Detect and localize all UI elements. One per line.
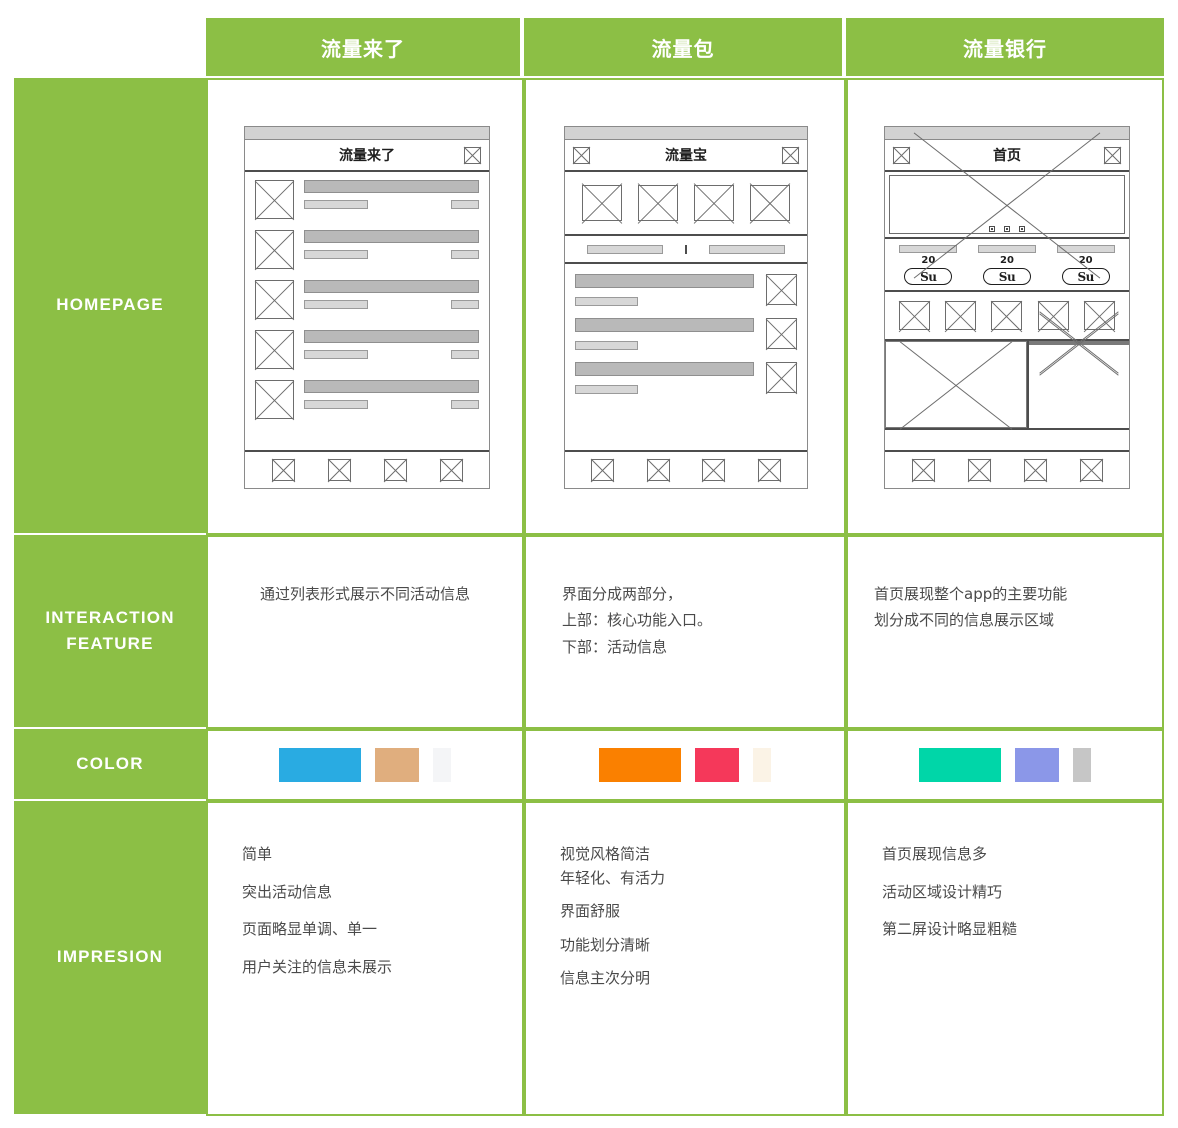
subtitle-row bbox=[304, 300, 479, 309]
impresion-line: 首页展现信息多 bbox=[882, 845, 1150, 865]
x-box-icon[interactable] bbox=[702, 459, 725, 481]
x-box-icon[interactable] bbox=[991, 301, 1022, 330]
x-box-icon[interactable] bbox=[893, 147, 910, 164]
homepage-cell-3: 首页 20 Su 20 Su bbox=[846, 78, 1164, 535]
x-box-icon bbox=[766, 318, 797, 349]
interaction-text-2: 界面分成两部分， 上部：核心功能入口。 下部：活动信息 bbox=[526, 581, 844, 660]
impresion-line: 简单 bbox=[242, 845, 510, 865]
list-item[interactable] bbox=[255, 230, 479, 269]
impresion-line: 第二屏设计略显粗糙 bbox=[882, 920, 1150, 940]
mosaic-section bbox=[885, 341, 1129, 430]
list-area bbox=[245, 172, 489, 419]
x-box-icon[interactable] bbox=[328, 459, 351, 481]
list-item-lines bbox=[304, 330, 479, 359]
x-box-icon bbox=[255, 180, 294, 219]
impresion-line: 界面舒服 bbox=[560, 902, 832, 922]
promo-pill-button[interactable]: Su bbox=[904, 268, 952, 285]
subtitle-placeholder-bar bbox=[304, 300, 368, 309]
list-item-lines bbox=[304, 180, 479, 209]
impresion-list-3: 首页展现信息多 活动区域设计精巧 第二屏设计略显粗糙 bbox=[882, 845, 1150, 958]
interaction-cell-1: 通过列表形式展示不同活动信息 bbox=[206, 535, 524, 729]
interaction-text-1: 通过列表形式展示不同活动信息 bbox=[208, 581, 522, 607]
x-box-icon[interactable] bbox=[582, 185, 622, 221]
carousel-dot[interactable] bbox=[989, 226, 995, 232]
feed-item-lines bbox=[575, 274, 754, 306]
promo-pill-button[interactable]: Su bbox=[1062, 268, 1110, 285]
x-box-icon[interactable] bbox=[694, 185, 734, 221]
impresion-line: 信息主次分明 bbox=[560, 969, 832, 989]
interaction-cell-2: 界面分成两部分， 上部：核心功能入口。 下部：活动信息 bbox=[524, 535, 846, 729]
x-box-icon bbox=[255, 280, 294, 319]
row-label-impresion: IMPRESION bbox=[14, 801, 206, 1114]
x-box-icon[interactable] bbox=[899, 301, 930, 330]
column-header-3-label: 流量银行 bbox=[963, 33, 1047, 62]
title-placeholder-bar bbox=[304, 380, 479, 393]
impresion-cell-3: 首页展现信息多 活动区域设计精巧 第二屏设计略显粗糙 bbox=[846, 801, 1164, 1116]
wireframe-mock-3: 首页 20 Su 20 Su bbox=[884, 126, 1130, 489]
app-title: 流量来了 bbox=[339, 145, 395, 165]
list-item-lines bbox=[304, 280, 479, 309]
title-bar: 首页 bbox=[885, 140, 1129, 172]
interaction-cell-3: 首页展现整个app的主要功能 划分成不同的信息展示区域 bbox=[846, 535, 1164, 729]
x-box-icon bbox=[766, 362, 797, 393]
impresion-cell-1: 简单 突出活动信息 页面略显单调、单一 用户关注的信息未展示 bbox=[206, 801, 524, 1116]
list-item-lines bbox=[304, 230, 479, 259]
promo-column[interactable]: 20 Su bbox=[968, 245, 1047, 285]
carousel-dots bbox=[885, 226, 1129, 232]
row-label-impresion-text: IMPRESION bbox=[57, 944, 163, 970]
wireframe-mock-1: 流量来了 bbox=[244, 126, 490, 489]
color-swatch-row-2 bbox=[526, 731, 844, 799]
split-entry-right[interactable] bbox=[685, 245, 807, 254]
x-box-icon[interactable] bbox=[750, 185, 790, 221]
color-swatch-tertiary bbox=[1073, 748, 1091, 782]
meta-placeholder-bar bbox=[451, 400, 479, 409]
list-item[interactable] bbox=[255, 280, 479, 319]
meta-placeholder-bar bbox=[451, 200, 479, 209]
split-entry-left[interactable] bbox=[565, 245, 685, 254]
split-entry-row bbox=[565, 236, 807, 264]
banner-carousel[interactable] bbox=[885, 172, 1129, 239]
interaction-text-3: 首页展现整个app的主要功能 划分成不同的信息展示区域 bbox=[848, 581, 1162, 634]
feed-area bbox=[565, 264, 807, 394]
app-title: 流量宝 bbox=[665, 145, 707, 165]
color-swatch-tertiary bbox=[753, 748, 771, 782]
list-item[interactable] bbox=[575, 274, 797, 306]
impresion-line: 活动区域设计精巧 bbox=[882, 883, 1150, 903]
column-header-1-label: 流量来了 bbox=[321, 33, 405, 62]
list-item[interactable] bbox=[255, 380, 479, 419]
color-swatch-primary bbox=[599, 748, 681, 782]
row-label-color: COLOR bbox=[14, 729, 206, 799]
list-item[interactable] bbox=[255, 180, 479, 219]
x-box-icon[interactable] bbox=[968, 459, 991, 481]
subtitle-placeholder-bar bbox=[304, 400, 368, 409]
status-bar bbox=[565, 127, 807, 140]
mosaic-right-stack bbox=[1027, 341, 1129, 428]
color-swatch-secondary bbox=[1015, 748, 1059, 782]
title-placeholder-bar bbox=[304, 230, 479, 243]
x-box-icon[interactable] bbox=[758, 459, 781, 481]
impresion-line: 页面略显单调、单一 bbox=[242, 920, 510, 940]
list-item[interactable] bbox=[255, 330, 479, 369]
list-item[interactable] bbox=[575, 318, 797, 350]
x-box-icon[interactable] bbox=[647, 459, 670, 481]
entry-placeholder-bar bbox=[709, 245, 785, 254]
x-box-icon bbox=[255, 380, 294, 419]
x-box-icon[interactable] bbox=[573, 147, 590, 164]
subtitle-row bbox=[304, 400, 479, 409]
subtitle-placeholder-bar bbox=[575, 385, 638, 394]
row-label-interaction-feature: INTERACTION FEATURE bbox=[14, 535, 206, 727]
promo-number: 20 bbox=[921, 255, 935, 266]
x-box-icon bbox=[1029, 343, 1129, 345]
x-box-icon bbox=[255, 330, 294, 369]
bottom-tab-bar bbox=[245, 450, 489, 488]
color-swatch-primary bbox=[279, 748, 361, 782]
color-swatch-secondary bbox=[695, 748, 739, 782]
impresion-list-1: 简单 突出活动信息 页面略显单调、单一 用户关注的信息未展示 bbox=[242, 845, 510, 995]
impresion-line: 视觉风格简洁 bbox=[560, 845, 832, 865]
subtitle-placeholder-bar bbox=[304, 200, 368, 209]
x-box-icon[interactable] bbox=[1104, 147, 1121, 164]
impresion-line: 年轻化、有活力 bbox=[560, 869, 832, 889]
wireframe-mock-2: 流量宝 bbox=[564, 126, 808, 489]
impresion-line: 突出活动信息 bbox=[242, 883, 510, 903]
title-placeholder-bar bbox=[575, 362, 754, 376]
title-bar: 流量宝 bbox=[565, 140, 807, 172]
subtitle-placeholder-bar bbox=[304, 250, 368, 259]
column-header-3: 流量银行 bbox=[846, 18, 1164, 76]
color-swatch-tertiary bbox=[433, 748, 451, 782]
x-box-icon bbox=[885, 341, 1027, 428]
x-box-icon[interactable] bbox=[384, 459, 407, 481]
title-placeholder-bar bbox=[304, 280, 479, 293]
x-box-icon[interactable] bbox=[440, 459, 463, 481]
column-header-2: 流量包 bbox=[524, 18, 842, 76]
x-box-icon bbox=[255, 230, 294, 269]
x-box-icon[interactable] bbox=[591, 459, 614, 481]
title-placeholder-bar bbox=[575, 274, 754, 288]
feed-item-lines bbox=[575, 318, 754, 350]
impresion-cell-2: 视觉风格简洁 年轻化、有活力 界面舒服 功能划分清晰 信息主次分明 bbox=[524, 801, 846, 1116]
color-swatch-secondary bbox=[375, 748, 419, 782]
carousel-dot[interactable] bbox=[1019, 226, 1025, 232]
title-placeholder-bar bbox=[304, 180, 479, 193]
feature-icon-grid bbox=[565, 172, 807, 236]
meta-placeholder-bar bbox=[451, 250, 479, 259]
impresion-list-2: 视觉风格简洁 年轻化、有活力 界面舒服 功能划分清晰 信息主次分明 bbox=[560, 845, 832, 1003]
promo-row: 20 Su 20 Su 20 Su bbox=[885, 239, 1129, 292]
bottom-tab-bar bbox=[885, 450, 1129, 488]
subtitle-row bbox=[304, 200, 479, 209]
feed-item-lines bbox=[575, 362, 754, 394]
subtitle-placeholder-bar bbox=[575, 297, 638, 306]
column-header-2-label: 流量包 bbox=[652, 33, 715, 62]
meta-placeholder-bar bbox=[451, 350, 479, 359]
color-cell-2 bbox=[524, 729, 846, 801]
entry-placeholder-bar bbox=[587, 245, 663, 254]
x-box-icon[interactable] bbox=[782, 147, 799, 164]
list-item[interactable] bbox=[575, 362, 797, 394]
color-swatch-row-1 bbox=[208, 731, 522, 799]
title-bar: 流量来了 bbox=[245, 140, 489, 172]
promo-number: 20 bbox=[1000, 255, 1014, 266]
x-box-icon[interactable] bbox=[1024, 459, 1047, 481]
mosaic-tile-small[interactable] bbox=[1029, 343, 1129, 345]
impresion-line: 功能划分清晰 bbox=[560, 936, 832, 956]
row-label-homepage-text: HOMEPAGE bbox=[56, 292, 164, 318]
x-box-icon[interactable] bbox=[272, 459, 295, 481]
color-cell-3 bbox=[846, 729, 1164, 801]
column-header-1: 流量来了 bbox=[206, 18, 520, 76]
row-label-homepage: HOMEPAGE bbox=[14, 78, 206, 533]
homepage-cell-1: 流量来了 bbox=[206, 78, 524, 535]
subtitle-row bbox=[304, 350, 479, 359]
promo-column[interactable]: 20 Su bbox=[1046, 245, 1125, 285]
x-box-icon[interactable] bbox=[945, 301, 976, 330]
carousel-dot[interactable] bbox=[1004, 226, 1010, 232]
x-box-icon bbox=[766, 274, 797, 305]
x-box-icon[interactable] bbox=[638, 185, 678, 221]
impresion-line: 用户关注的信息未展示 bbox=[242, 958, 510, 978]
bottom-tab-bar bbox=[565, 450, 807, 488]
promo-placeholder-bar bbox=[978, 245, 1036, 253]
title-placeholder-bar bbox=[304, 330, 479, 343]
subtitle-row bbox=[304, 250, 479, 259]
x-box-icon[interactable] bbox=[1080, 459, 1103, 481]
color-swatch-row-3 bbox=[848, 731, 1162, 799]
x-box-icon[interactable] bbox=[912, 459, 935, 481]
app-title: 首页 bbox=[993, 145, 1021, 165]
subtitle-placeholder-bar bbox=[304, 350, 368, 359]
comparison-board: 流量来了 流量包 流量银行 HOMEPAGE INTERACTION FEATU… bbox=[0, 0, 1178, 1128]
promo-pill-button[interactable]: Su bbox=[983, 268, 1031, 285]
list-item-lines bbox=[304, 380, 479, 409]
row-label-color-text: COLOR bbox=[76, 751, 143, 777]
title-placeholder-bar bbox=[575, 318, 754, 332]
homepage-cell-2: 流量宝 bbox=[524, 78, 846, 535]
status-bar bbox=[245, 127, 489, 140]
color-cell-1 bbox=[206, 729, 524, 801]
x-box-icon[interactable] bbox=[464, 147, 481, 164]
mosaic-tile-large[interactable] bbox=[885, 341, 1027, 428]
row-label-interaction-text: INTERACTION FEATURE bbox=[45, 605, 174, 658]
color-swatch-primary bbox=[919, 748, 1001, 782]
subtitle-placeholder-bar bbox=[575, 341, 638, 350]
meta-placeholder-bar bbox=[451, 300, 479, 309]
